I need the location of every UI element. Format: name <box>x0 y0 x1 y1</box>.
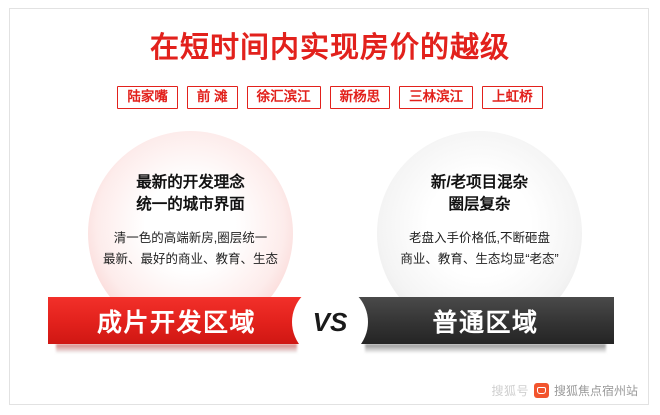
panel-right-content: 新/老项目混杂 圈层复杂 老盘入手价格低,不断砸盘 商业、教育、生态均显“老态” <box>377 131 582 269</box>
panel-right-body: 老盘入手价格低,不断砸盘 商业、教育、生态均显“老态” <box>377 228 582 269</box>
panel-right-heading-line2: 圈层复杂 <box>377 194 582 216</box>
panel-left-body: 清一色的高端新房,圈层统一 最新、最好的商业、教育、生态 <box>88 228 293 269</box>
panel-left-heading-line2: 统一的城市界面 <box>88 194 293 216</box>
sohu-logo-icon <box>534 383 549 398</box>
left-bar-shadow <box>56 344 297 353</box>
right-bar-label: 普通区域 <box>357 297 614 344</box>
panel-right-body-line1: 老盘入手价格低,不断砸盘 <box>377 228 582 249</box>
panel-left-content: 最新的开发理念 统一的城市界面 清一色的高端新房,圈层统一 最新、最好的商业、教… <box>88 131 293 269</box>
watermark-text: 搜狐焦点宿州站 <box>554 382 638 399</box>
district-tag-list: 陆家嘴 前 滩 徐汇滨江 新杨思 三林滨江 上虹桥 <box>0 86 660 109</box>
left-bar-label: 成片开发区域 <box>48 297 305 344</box>
panel-left-heading: 最新的开发理念 统一的城市界面 <box>88 172 293 217</box>
watermark-faint-text: 搜狐号 <box>491 382 529 399</box>
district-tag: 三林滨江 <box>399 86 473 109</box>
district-tag: 上虹桥 <box>482 86 543 109</box>
vs-badge: VS <box>294 286 366 358</box>
panel-left-heading-line1: 最新的开发理念 <box>88 172 293 194</box>
poster-root: 在短时间内实现房价的越级 陆家嘴 前 滩 徐汇滨江 新杨思 三林滨江 上虹桥 最… <box>0 0 660 415</box>
panel-right-body-line2: 商业、教育、生态均显“老态” <box>377 249 582 270</box>
district-tag: 陆家嘴 <box>117 86 178 109</box>
district-tag: 前 滩 <box>187 86 238 109</box>
panel-right-heading: 新/老项目混杂 圈层复杂 <box>377 172 582 217</box>
page-title: 在短时间内实现房价的越级 <box>0 24 660 66</box>
watermark: 搜狐号 搜狐焦点宿州站 <box>491 382 638 399</box>
panel-left-body-line2: 最新、最好的商业、教育、生态 <box>88 249 293 270</box>
panel-right-heading-line1: 新/老项目混杂 <box>377 172 582 194</box>
district-tag: 新杨思 <box>330 86 391 109</box>
panel-left-body-line1: 清一色的高端新房,圈层统一 <box>88 228 293 249</box>
right-bar-shadow <box>365 344 606 353</box>
district-tag: 徐汇滨江 <box>247 86 321 109</box>
